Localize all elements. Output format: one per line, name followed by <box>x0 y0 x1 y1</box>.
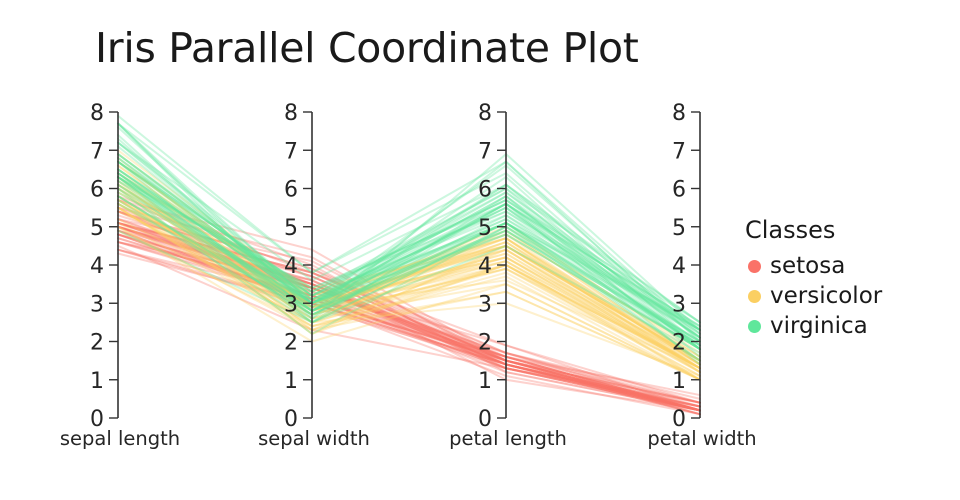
axis-tick-label: 8 <box>284 101 298 126</box>
axis-tick-label: 4 <box>284 254 298 279</box>
axis-tick-label: 5 <box>672 216 686 241</box>
axis-tick-label: 6 <box>478 178 492 203</box>
axis-tick-label: 7 <box>478 139 492 164</box>
axis-tick-label: 6 <box>90 178 104 203</box>
axis-tick-label: 2 <box>90 331 104 356</box>
axis-tick-label: 5 <box>478 216 492 241</box>
legend-swatch-icon <box>748 260 761 273</box>
legend-item-label: virginica <box>770 315 868 338</box>
legend-item-label: setosa <box>770 255 845 278</box>
axis-tick-label: 6 <box>284 178 298 203</box>
axis-tick-label: 6 <box>672 178 686 203</box>
axis-tick-label: 3 <box>90 292 104 317</box>
axis-tick-label: 7 <box>90 139 104 164</box>
axis-tick-label: 3 <box>672 292 686 317</box>
axis-tick-label: 1 <box>672 369 686 394</box>
legend-swatch-icon <box>748 290 761 303</box>
axis-sepal-length[interactable]: 012345678sepal length <box>60 101 180 450</box>
axis-tick-label: 8 <box>478 101 492 126</box>
axis-tick-label: 7 <box>284 139 298 164</box>
axis-tick-label: 3 <box>284 292 298 317</box>
axis-tick-label: 7 <box>672 139 686 164</box>
axis-tick-label: 2 <box>672 331 686 356</box>
legend: Classes setosaversicolorvirginica <box>745 218 882 341</box>
legend-items: setosaversicolorvirginica <box>745 251 882 341</box>
legend-item-virginica[interactable]: virginica <box>745 311 882 341</box>
axis-tick-label: 5 <box>284 216 298 241</box>
legend-item-label: versicolor <box>770 285 882 308</box>
axis-tick-label: 1 <box>284 369 298 394</box>
axis-tick-label: 2 <box>478 331 492 356</box>
parallel-coordinate-plot-figure: Iris Parallel Coordinate Plot 012345678s… <box>0 0 960 500</box>
axis-caption-label: petal width <box>647 427 756 450</box>
axis-tick-label: 4 <box>90 254 104 279</box>
axis-tick-label: 1 <box>90 369 104 394</box>
axis-tick-label: 5 <box>90 216 104 241</box>
axis-tick-label: 1 <box>478 369 492 394</box>
axis-tick-label: 2 <box>284 331 298 356</box>
axis-caption-label: sepal width <box>258 427 370 450</box>
axis-tick-label: 8 <box>672 101 686 126</box>
axis-caption-label: petal length <box>449 427 567 450</box>
data-lines-layer <box>118 116 700 414</box>
axis-tick-label: 4 <box>672 254 686 279</box>
legend-title: Classes <box>745 218 882 242</box>
legend-item-setosa[interactable]: setosa <box>745 251 882 281</box>
axis-caption-label: sepal length <box>60 427 180 450</box>
legend-swatch-icon <box>748 320 761 333</box>
axis-tick-label: 4 <box>478 254 492 279</box>
axis-tick-label: 8 <box>90 101 104 126</box>
legend-item-versicolor[interactable]: versicolor <box>745 281 882 311</box>
axis-tick-label: 3 <box>478 292 492 317</box>
